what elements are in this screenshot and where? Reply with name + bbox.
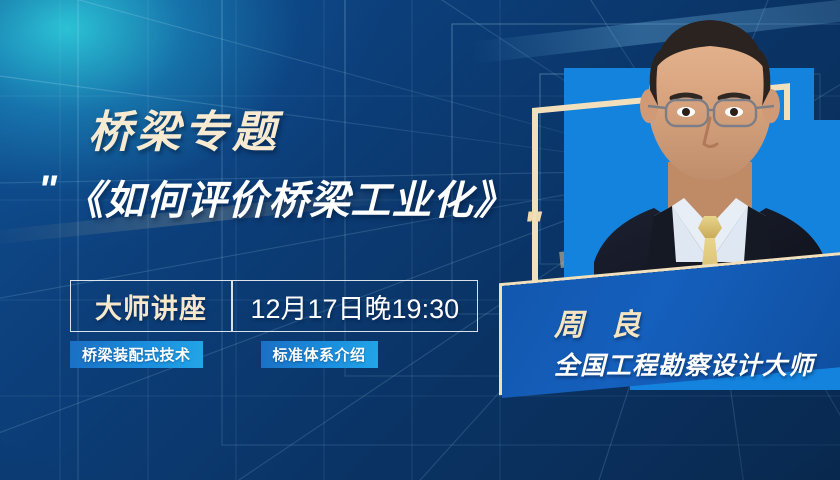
topic-tag-list: 桥梁装配式技术 标准体系介绍 [70, 341, 378, 368]
lecture-poster: 桥梁专题 " 《如何评价桥梁工业化》 " 大师讲座 12月17日晚19:30 桥… [0, 0, 840, 480]
subtitle-group: " 《如何评价桥梁工业化》 " [38, 168, 538, 226]
quote-close-icon: " [523, 206, 542, 246]
tag-spacer [203, 341, 261, 368]
topic-tag: 标准体系介绍 [261, 341, 378, 368]
lecture-type-label: 大师讲座 [71, 281, 231, 331]
quote-open-icon: " [38, 170, 57, 210]
topic-tag: 桥梁装配式技术 [70, 341, 203, 368]
speaker-name: 周 良 [554, 300, 840, 344]
lecture-datetime: 12月17日晚19:30 [233, 281, 477, 331]
page-subtitle: 《如何评价桥梁工业化》 [63, 168, 514, 226]
page-title: 桥梁专题 [88, 96, 280, 160]
lecture-info-box: 大师讲座 12月17日晚19:30 [70, 280, 478, 332]
speaker-title: 全国工程勘察设计大师 [554, 346, 840, 382]
